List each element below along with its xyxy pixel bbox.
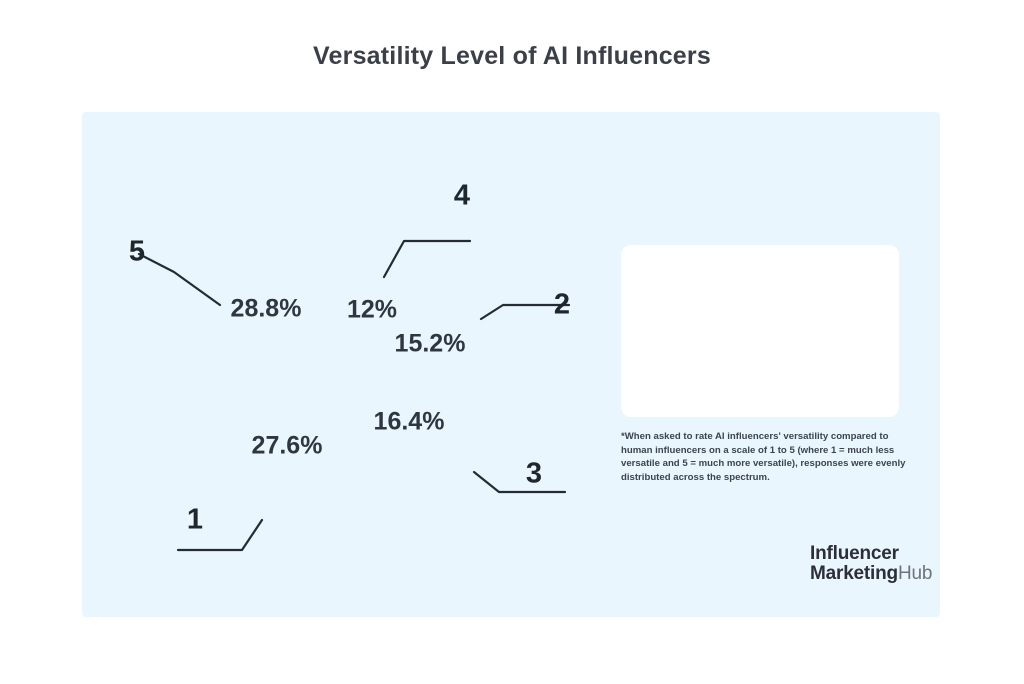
logo-wordmark: Influencer MarketingHub <box>810 544 932 584</box>
callout-label-4: 4 <box>454 180 470 213</box>
slice-value-much-more-versatile: 28.8% <box>231 295 302 324</box>
callout-label-1: 1 <box>187 504 203 537</box>
brand-logo: Influencer MarketingHub <box>772 540 937 588</box>
leader-line-3 <box>474 472 565 492</box>
logo-word-hub: Hub <box>898 563 932 584</box>
callout-label-2: 2 <box>554 289 570 322</box>
logo-line-influencer: Influencer <box>810 544 932 564</box>
leader-line-5 <box>139 254 220 305</box>
logo-word-marketing: Marketing <box>810 563 898 584</box>
footnote-text: *When asked to rate AI influencers' vers… <box>621 430 906 484</box>
slice-value-much-less-versatile: 27.6% <box>252 432 323 461</box>
logo-line-marketinghub: MarketingHub <box>810 564 932 584</box>
callout-label-5: 5 <box>129 236 145 269</box>
slice-value-more-versatile: 12% <box>347 296 397 325</box>
slice-value-equally-versatile: 16.4% <box>374 408 445 437</box>
leader-line-4 <box>384 241 470 277</box>
callout-label-3: 3 <box>526 458 542 491</box>
chart-panel: 12% 15.2% 16.4% 27.6% 28.8% 5 4 2 3 1 *W… <box>82 112 940 617</box>
leader-lines <box>139 241 569 550</box>
chart-legend <box>621 245 899 417</box>
page-title: Versatility Level of AI Influencers <box>0 42 1024 71</box>
slice-value-less-versatile: 15.2% <box>395 330 466 359</box>
